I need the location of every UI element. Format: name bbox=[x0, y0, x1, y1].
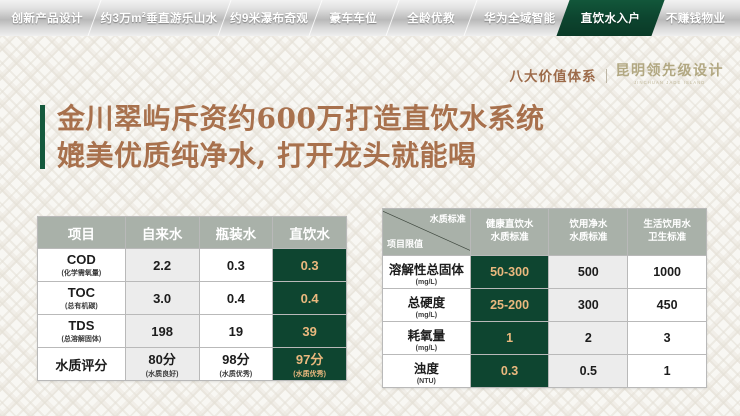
nav-item-2[interactable]: 约3万m2垂直游乐山水 bbox=[94, 0, 224, 36]
data-cell: 2.2 bbox=[125, 249, 199, 282]
column-header-3: 瓶装水 bbox=[199, 217, 273, 249]
diagonal-corner-header: 水质标准项目限值 bbox=[383, 209, 471, 256]
superscript-2: 2 bbox=[142, 12, 146, 19]
table-row: 溶解性总固体(mg/L)50-3005001000 bbox=[383, 256, 707, 289]
data-cell: 0.3 bbox=[199, 249, 273, 282]
cell-value: 198 bbox=[151, 324, 173, 339]
headline-line-1: 金川翠屿斥资约600万打造直饮水系统 bbox=[57, 101, 544, 138]
cell-value-sub: (水质优秀) bbox=[273, 369, 346, 379]
nav-item-label: 约3万m2垂直游乐山水 bbox=[101, 10, 218, 26]
table-row: 耗氧量(mg/L)123 bbox=[383, 322, 707, 355]
cell-value: 19 bbox=[229, 324, 243, 339]
row-item-sub: (NTU) bbox=[383, 378, 470, 385]
data-cell: 0.3 bbox=[470, 355, 549, 388]
project-logo-en: JINCHUAN JADE ISLAND bbox=[634, 81, 705, 85]
cell-value: 0.3 bbox=[227, 258, 245, 273]
row-item-name: COD bbox=[67, 252, 96, 267]
cell-value: 3 bbox=[664, 331, 671, 345]
table-row: 水质评分80分(水质良好)98分(水质优秀)97分(水质优秀) bbox=[38, 348, 347, 381]
cell-value: 0.4 bbox=[301, 291, 319, 306]
column-header-line-1: 生活饮用水 bbox=[628, 219, 706, 232]
cell-value: 39 bbox=[302, 324, 316, 339]
header-divider bbox=[606, 69, 607, 83]
cell-value: 1 bbox=[506, 331, 513, 345]
row-item-name: TOC bbox=[68, 285, 95, 300]
water-comparison-table: 项目自来水瓶装水直饮水COD(化学需氧量)2.20.30.3TOC(总有机碳)3… bbox=[37, 216, 347, 381]
nav-item-label: 全龄优教 bbox=[407, 10, 455, 26]
cell-value: 97分 bbox=[296, 352, 323, 367]
cell-value: 25-200 bbox=[490, 298, 529, 312]
column-header-line-2: 水质标准 bbox=[549, 232, 627, 245]
cell-value: 1 bbox=[664, 364, 671, 378]
data-cell: 97分(水质优秀) bbox=[273, 348, 347, 381]
cell-value: 1000 bbox=[653, 265, 681, 279]
data-cell: 50-300 bbox=[470, 256, 549, 289]
nav-item-label: 华为全域智能 bbox=[484, 10, 555, 26]
row-item-sub: (化学需氧量) bbox=[38, 268, 125, 278]
cell-value: 0.4 bbox=[227, 291, 245, 306]
row-item-cell: 溶解性总固体(mg/L) bbox=[383, 256, 471, 289]
column-header-1: 健康直饮水水质标准 bbox=[470, 209, 549, 256]
project-logo: 昆明领先级设计 JINCHUAN JADE ISLAND bbox=[616, 64, 725, 85]
data-cell: 198 bbox=[125, 315, 199, 348]
nav-item-label: 约9米瀑布奇观 bbox=[230, 10, 308, 26]
cell-value: 0.3 bbox=[501, 364, 518, 378]
column-header-line-1: 健康直饮水 bbox=[471, 219, 549, 232]
row-item-cell: TOC(总有机碳) bbox=[38, 282, 126, 315]
cell-value-sub: (水质优秀) bbox=[200, 369, 273, 379]
corner-label-top: 水质标准 bbox=[430, 213, 466, 225]
column-header-2: 自来水 bbox=[125, 217, 199, 249]
table-row: 总硬度(mg/L)25-200300450 bbox=[383, 289, 707, 322]
data-cell: 39 bbox=[273, 315, 347, 348]
data-cell: 500 bbox=[549, 256, 628, 289]
project-logo-cn: 昆明领先级设计 bbox=[616, 64, 725, 78]
nav-item-label: 不赚钱物业 bbox=[666, 10, 726, 26]
nav-items-strip: 创新产品设计约3万m2垂直游乐山水约9米瀑布奇观豪车车位全龄优教华为全域智能直饮… bbox=[0, 0, 740, 36]
cell-value: 3.0 bbox=[153, 291, 171, 306]
column-header-line-2: 卫生标准 bbox=[628, 232, 706, 245]
cell-value: 2 bbox=[585, 331, 592, 345]
data-cell: 80分(水质良好) bbox=[125, 348, 199, 381]
data-cell: 3.0 bbox=[125, 282, 199, 315]
table-row: 浊度(NTU)0.30.51 bbox=[383, 355, 707, 388]
column-header-line-1: 饮用净水 bbox=[549, 219, 627, 232]
row-item-sub: (总溶解固体) bbox=[38, 334, 125, 344]
data-cell: 0.4 bbox=[273, 282, 347, 315]
headline-accent-bar bbox=[40, 105, 45, 169]
data-cell: 19 bbox=[199, 315, 273, 348]
data-cell: 0.5 bbox=[549, 355, 628, 388]
row-item-sub: (mg/L) bbox=[383, 345, 470, 352]
nav-item-7[interactable]: 直饮水入户 bbox=[570, 0, 651, 36]
table-header-row: 水质标准项目限值健康直饮水水质标准饮用净水水质标准生活饮用水卫生标准 bbox=[383, 209, 707, 256]
cell-value: 0.5 bbox=[580, 364, 597, 378]
table-header-row: 项目自来水瓶装水直饮水 bbox=[38, 217, 347, 249]
headline-line-2: 媲美优质纯净水, 打开龙头就能喝 bbox=[57, 138, 544, 175]
column-header-2: 饮用净水水质标准 bbox=[549, 209, 628, 256]
top-navigation-bar: 创新产品设计约3万m2垂直游乐山水约9米瀑布奇观豪车车位全龄优教华为全域智能直饮… bbox=[0, 0, 740, 36]
data-cell: 0.3 bbox=[273, 249, 347, 282]
nav-item-label: 直饮水入户 bbox=[581, 10, 641, 26]
value-system-title: 八大价值体系 bbox=[510, 65, 597, 85]
nav-item-4[interactable]: 豪车车位 bbox=[315, 0, 393, 36]
data-cell: 2 bbox=[549, 322, 628, 355]
value-system-header: 八大价值体系 昆明领先级设计 JINCHUAN JADE ISLAND bbox=[510, 64, 725, 85]
nav-item-label: 创新产品设计 bbox=[11, 10, 82, 26]
row-item-cell: COD(化学需氧量) bbox=[38, 249, 126, 282]
row-item-cell: TDS(总溶解固体) bbox=[38, 315, 126, 348]
cell-value: 300 bbox=[578, 298, 599, 312]
data-cell: 300 bbox=[549, 289, 628, 322]
table-row: TOC(总有机碳)3.00.40.4 bbox=[38, 282, 347, 315]
column-header-label: 瓶装水 bbox=[216, 227, 257, 242]
headline-text: 金川翠屿斥资约600万打造直饮水系统 媲美优质纯净水, 打开龙头就能喝 bbox=[57, 101, 544, 175]
row-item-cell: 耗氧量(mg/L) bbox=[383, 322, 471, 355]
corner-label-bottom: 项目限值 bbox=[387, 238, 423, 250]
data-cell: 1000 bbox=[628, 256, 707, 289]
data-cell: 3 bbox=[628, 322, 707, 355]
cell-value-sub: (水质良好) bbox=[126, 369, 199, 379]
row-item-cell: 浊度(NTU) bbox=[383, 355, 471, 388]
column-header-3: 生活饮用水卫生标准 bbox=[628, 209, 707, 256]
cell-value: 50-300 bbox=[490, 265, 529, 279]
row-item-name: 浊度 bbox=[414, 362, 439, 376]
data-cell: 1 bbox=[470, 322, 549, 355]
row-item-cell: 水质评分 bbox=[38, 348, 126, 381]
column-header-1: 项目 bbox=[38, 217, 126, 249]
data-cell: 98分(水质优秀) bbox=[199, 348, 273, 381]
data-cell: 450 bbox=[628, 289, 707, 322]
table-row: COD(化学需氧量)2.20.30.3 bbox=[38, 249, 347, 282]
nav-item-1[interactable]: 创新产品设计 bbox=[0, 0, 94, 36]
headline-block: 金川翠屿斥资约600万打造直饮水系统 媲美优质纯净水, 打开龙头就能喝 bbox=[40, 101, 544, 175]
nav-item-8[interactable]: 不赚钱物业 bbox=[651, 0, 740, 36]
water-standards-table: 水质标准项目限值健康直饮水水质标准饮用净水水质标准生活饮用水卫生标准溶解性总固体… bbox=[382, 208, 707, 388]
row-item-name: TDS bbox=[68, 318, 94, 333]
cell-value: 0.3 bbox=[301, 258, 319, 273]
row-item-name: 总硬度 bbox=[408, 296, 446, 310]
nav-item-5[interactable]: 全龄优教 bbox=[392, 0, 470, 36]
row-item-sub: (mg/L) bbox=[383, 312, 470, 319]
row-item-name: 水质评分 bbox=[55, 358, 107, 373]
cell-value: 500 bbox=[578, 265, 599, 279]
cell-value: 80分 bbox=[148, 352, 175, 367]
nav-item-6[interactable]: 华为全域智能 bbox=[470, 0, 570, 36]
column-header-4: 直饮水 bbox=[273, 217, 347, 249]
row-item-cell: 总硬度(mg/L) bbox=[383, 289, 471, 322]
column-header-label: 项目 bbox=[68, 227, 95, 242]
column-header-label: 直饮水 bbox=[289, 227, 330, 242]
cell-value: 2.2 bbox=[153, 258, 171, 273]
row-item-name: 溶解性总固体 bbox=[389, 263, 464, 277]
column-header-label: 自来水 bbox=[142, 227, 183, 242]
table-row: TDS(总溶解固体)1981939 bbox=[38, 315, 347, 348]
nav-item-label: 豪车车位 bbox=[330, 10, 378, 26]
row-item-name: 耗氧量 bbox=[408, 329, 446, 343]
data-cell: 1 bbox=[628, 355, 707, 388]
cell-value: 450 bbox=[657, 298, 678, 312]
data-cell: 25-200 bbox=[470, 289, 549, 322]
cell-value: 98分 bbox=[222, 352, 249, 367]
column-header-line-2: 水质标准 bbox=[471, 232, 549, 245]
data-cell: 0.4 bbox=[199, 282, 273, 315]
nav-item-3[interactable]: 约9米瀑布奇观 bbox=[224, 0, 315, 36]
row-item-sub: (总有机碳) bbox=[38, 301, 125, 311]
row-item-sub: (mg/L) bbox=[383, 279, 470, 286]
